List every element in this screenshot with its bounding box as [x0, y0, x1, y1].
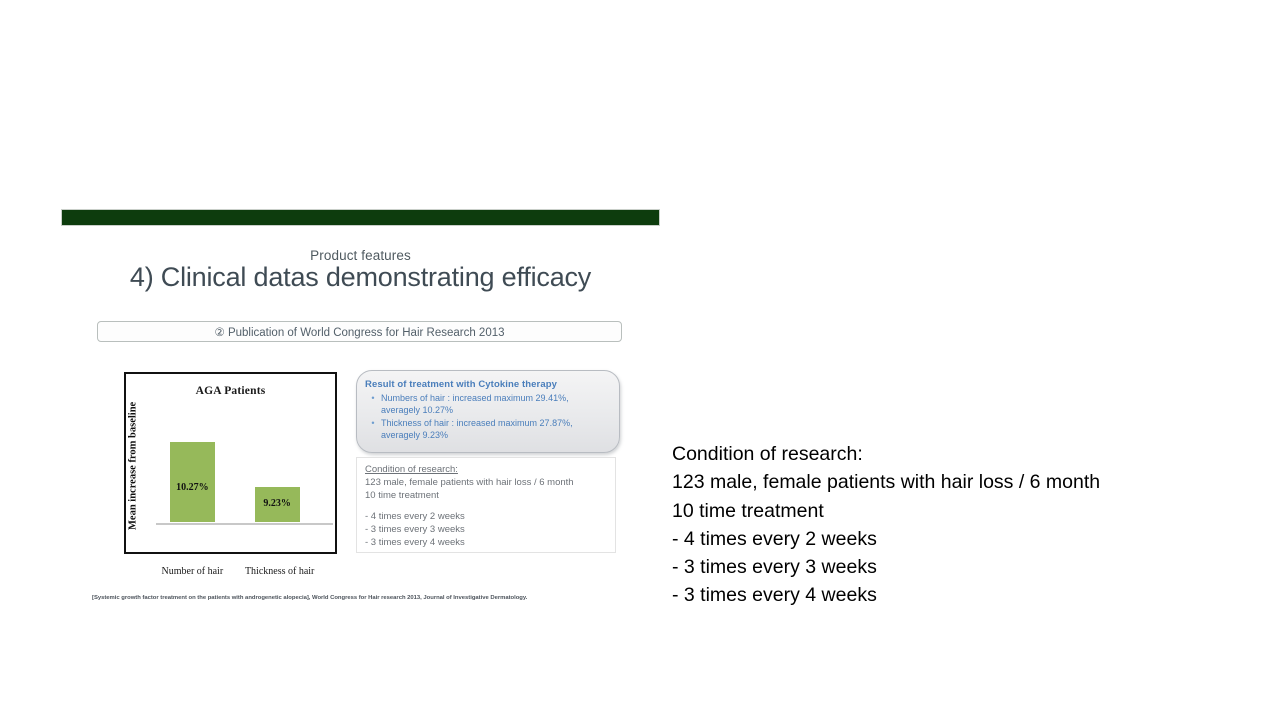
result-callout-item: • Numbers of hair : increased maximum 29…: [365, 393, 609, 416]
condition-box-schedule-line: - 3 times every 3 weeks: [365, 524, 607, 537]
bar-thickness-of-hair: 9.23%: [255, 487, 300, 522]
research-notes-line: 10 time treatment: [672, 497, 1232, 525]
research-notes-line: - 4 times every 2 weeks: [672, 525, 1232, 553]
bullet-icon: •: [365, 393, 381, 416]
publication-banner-label: ② Publication of World Congress for Hair…: [214, 325, 504, 339]
result-callout-item-text: Thickness of hair : increased maximum 27…: [381, 418, 609, 441]
research-notes-line: 123 male, female patients with hair loss…: [672, 468, 1232, 496]
research-notes-line: Condition of research:: [672, 440, 1232, 468]
chart-title: AGA Patients: [126, 385, 335, 397]
bar-value-thickness-of-hair: 9.23%: [255, 498, 300, 509]
result-callout-item-text: Numbers of hair : increased maximum 29.4…: [381, 393, 609, 416]
citation-footnote: [Systemic growth factor treatment on the…: [92, 595, 637, 601]
result-callout: Result of treatment with Cytokine therap…: [356, 370, 620, 453]
chart-category-label-0: Number of hair: [153, 566, 233, 577]
chart-y-axis-label: Mean increase from baseline: [124, 392, 142, 540]
condition-box-title: Condition of research:: [365, 464, 607, 477]
chart-baseline-axis: [156, 523, 333, 525]
condition-box-schedule-line: - 3 times every 4 weeks: [365, 537, 607, 550]
result-callout-item: • Thickness of hair : increased maximum …: [365, 418, 609, 441]
chart-plot-area: 10.27% 9.23% Number of hair Thickness of…: [156, 410, 329, 522]
condition-box-schedule-line: - 4 times every 2 weeks: [365, 511, 607, 524]
slide-image: Product features 4) Clinical datas demon…: [0, 0, 680, 720]
research-notes-line: - 3 times every 3 weeks: [672, 553, 1232, 581]
header-accent-bar: [61, 209, 660, 226]
chart-category-label-1: Thickness of hair: [237, 566, 322, 577]
bullet-icon: •: [365, 418, 381, 441]
research-notes-line: - 3 times every 4 weeks: [672, 581, 1232, 609]
result-callout-title: Result of treatment with Cytokine therap…: [365, 379, 609, 390]
condition-box-spacer: [365, 502, 607, 511]
research-notes: Condition of research: 123 male, female …: [672, 440, 1232, 610]
publication-banner: ② Publication of World Congress for Hair…: [97, 321, 622, 342]
slide-kicker: Product features: [61, 248, 660, 263]
bar-number-of-hair: 10.27%: [170, 442, 215, 522]
bar-chart: AGA Patients Mean increase from baseline…: [124, 372, 337, 554]
condition-of-research-box: Condition of research: 123 male, female …: [356, 457, 616, 553]
bar-value-number-of-hair: 10.27%: [170, 482, 215, 493]
condition-box-line: 123 male, female patients with hair loss…: [365, 477, 607, 490]
condition-box-line: 10 time treatment: [365, 490, 607, 503]
slide-title: 4) Clinical datas demonstrating efficacy: [61, 262, 660, 293]
